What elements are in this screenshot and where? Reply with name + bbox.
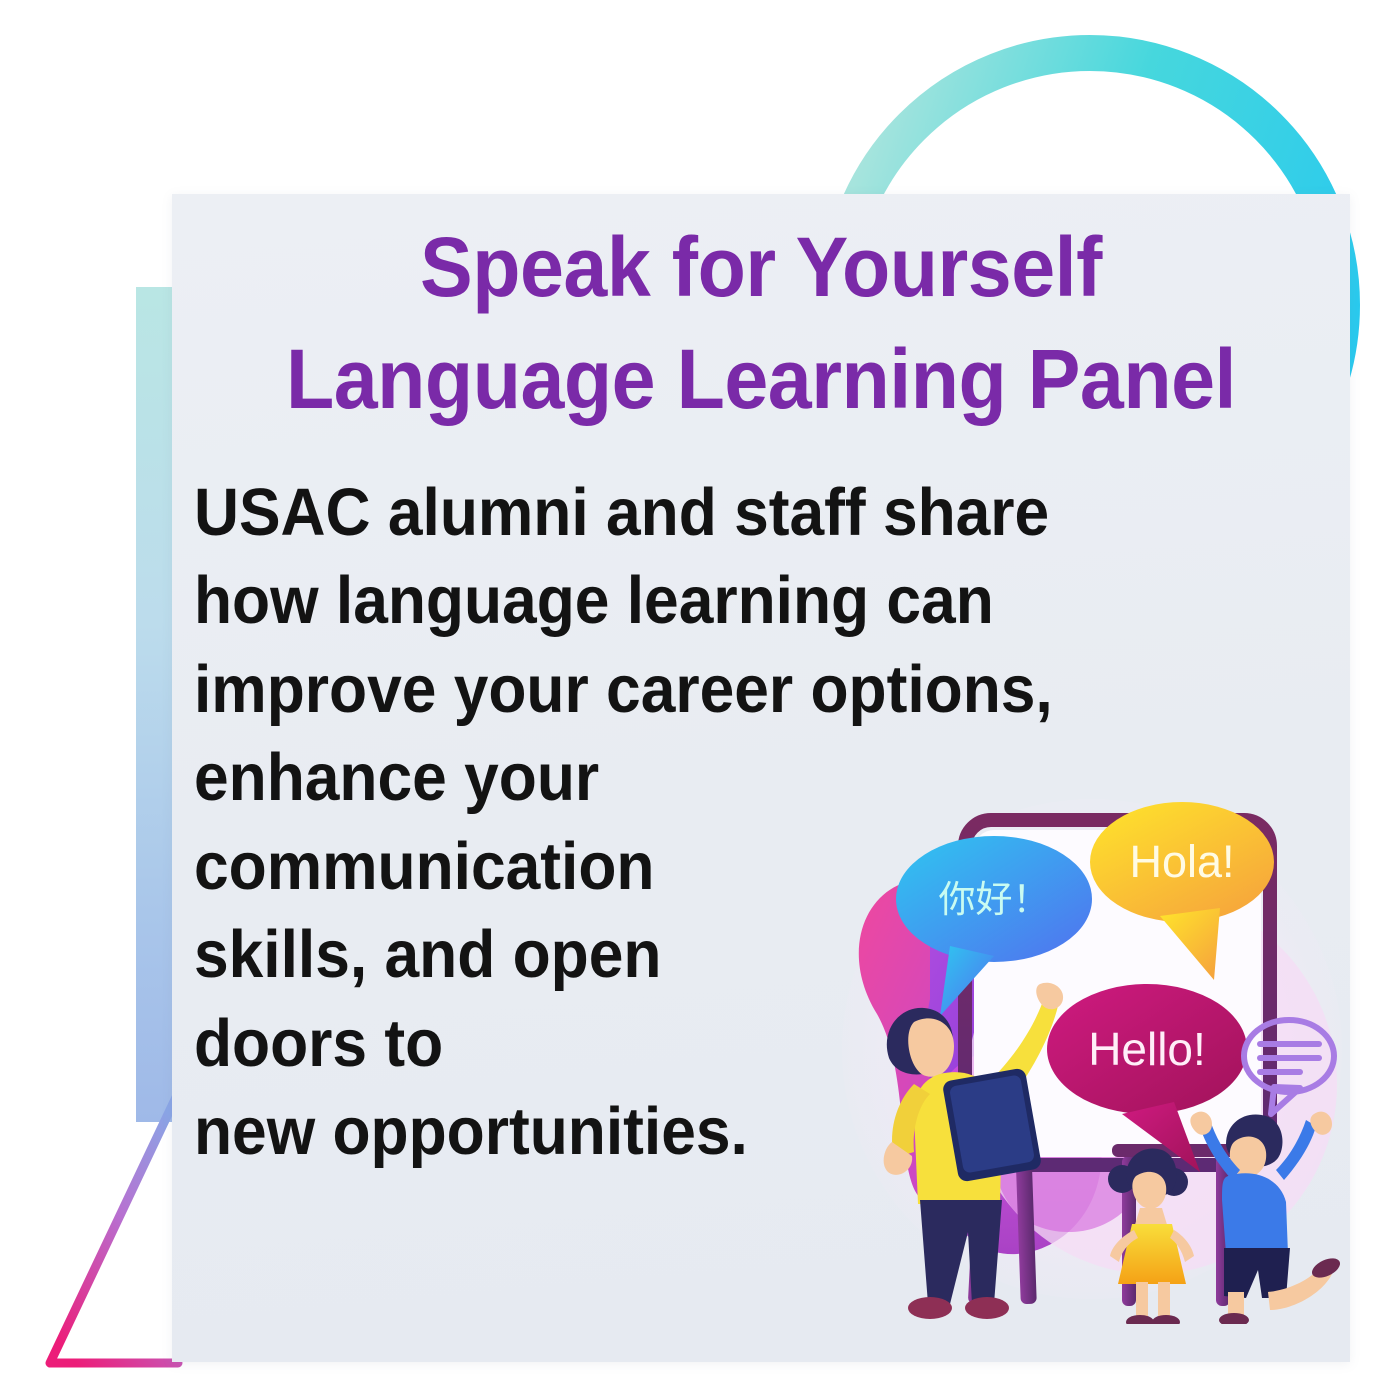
bubble-chinese-text: 你好！ <box>939 878 1050 921</box>
left-gradient-bar-decoration <box>136 287 173 1122</box>
body-line-2: how language learning can <box>194 557 1152 645</box>
body-line-1: USAC alumni and staff share <box>194 469 1152 557</box>
title-line-2: Language Learning Panel <box>207 324 1314 436</box>
bubble-spanish-text: Hola! <box>1129 836 1234 887</box>
content-card: Speak for Yourself Language Learning Pan… <box>172 194 1350 1362</box>
language-learning-illustration: 你好！ Hola! Hello! <box>822 784 1350 1324</box>
poster-canvas: Speak for Yourself Language Learning Pan… <box>0 0 1400 1400</box>
body-line-3: improve your career options, <box>194 646 1152 734</box>
page-title: Speak for Yourself Language Learning Pan… <box>207 212 1314 435</box>
bubble-english-text: Hello! <box>1088 1023 1206 1075</box>
title-line-1: Speak for Yourself <box>207 212 1314 324</box>
